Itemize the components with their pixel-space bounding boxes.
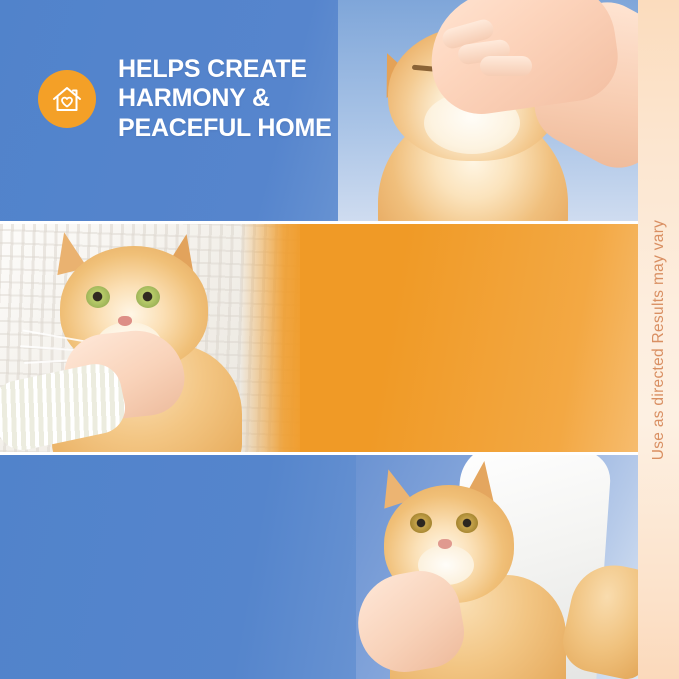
panel-3-photo bbox=[356, 455, 638, 679]
cat-eye-left bbox=[86, 286, 110, 308]
panel-1-heading: HELPS CREATE HARMONY & PEACEFUL HOME bbox=[118, 55, 332, 143]
disclaimer-text: Use as directed Results may vary bbox=[650, 219, 668, 459]
cat-nose bbox=[118, 316, 132, 326]
benefit-panel-2: 4ft CAT CALMING & COVERS UP TO 700 SQ FT bbox=[0, 224, 638, 452]
cat-eye-right bbox=[456, 513, 478, 533]
house-heart-icon bbox=[38, 70, 96, 128]
panel-divider bbox=[0, 221, 638, 224]
panel-2-photo bbox=[0, 224, 300, 452]
cat-eye-left bbox=[410, 513, 432, 533]
benefit-panel-3: 2wks VISIBLY IMPROVE THE CATS BEHAVIOR I… bbox=[0, 455, 638, 679]
panel-divider bbox=[0, 452, 638, 455]
cat-eye-right bbox=[136, 286, 160, 308]
human-finger bbox=[480, 56, 532, 76]
panel-1-content: HELPS CREATE HARMONY & PEACEFUL HOME bbox=[38, 55, 332, 143]
disclaimer-sidebar: Use as directed Results may vary bbox=[638, 0, 679, 679]
panel-1-photo bbox=[338, 0, 638, 222]
orange-blend-edge bbox=[240, 224, 300, 452]
infographic-root: HELPS CREATE HARMONY & PEACEFUL HOME bbox=[0, 0, 679, 679]
benefit-panel-1: HELPS CREATE HARMONY & PEACEFUL HOME bbox=[0, 0, 638, 222]
cat-nose bbox=[438, 539, 452, 549]
